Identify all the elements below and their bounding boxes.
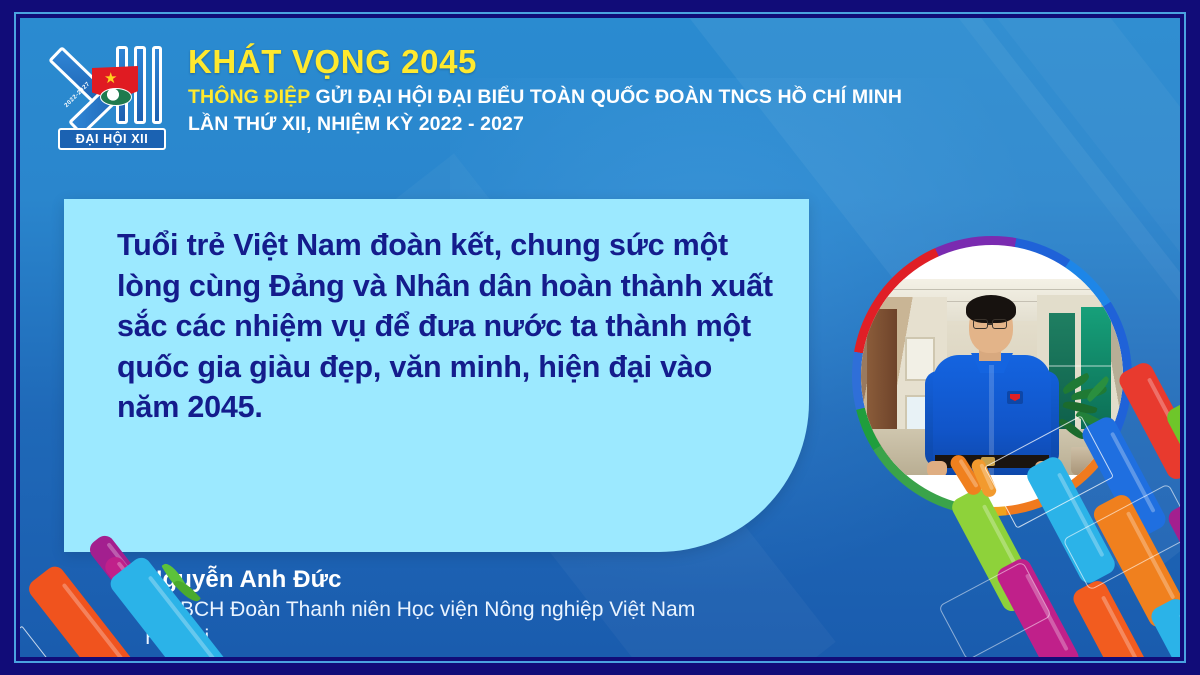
header-subtitle-line1: THÔNG ĐIỆP GỬI ĐẠI HỘI ĐẠI BIỂU TOÀN QUỐ… bbox=[188, 85, 902, 109]
poster-stage: 2022-2027 ★ ĐẠI HỘI XII KHÁT VỌNG 2045 T… bbox=[20, 18, 1180, 657]
poster-header: 2022-2027 ★ ĐẠI HỘI XII KHÁT VỌNG 2045 T… bbox=[56, 36, 902, 154]
youth-union-emblem-icon: ★ bbox=[92, 66, 138, 118]
decor-crayons-bottom-left bbox=[20, 538, 250, 657]
poster-root: 2022-2027 ★ ĐẠI HỘI XII KHÁT VỌNG 2045 T… bbox=[0, 0, 1200, 675]
header-subtitle-line2: LẦN THỨ XII, NHIỆM KỲ 2022 - 2027 bbox=[188, 113, 902, 136]
quote-card: Tuổi trẻ Việt Nam đoàn kết, chung sức mộ… bbox=[64, 199, 809, 552]
decor-crayons-bottom-right bbox=[950, 413, 1180, 657]
quote-text: Tuổi trẻ Việt Nam đoàn kết, chung sức mộ… bbox=[117, 225, 777, 428]
logo-banner-text: ĐẠI HỘI XII bbox=[58, 128, 166, 150]
dai-hoi-xii-logo-icon: 2022-2027 ★ ĐẠI HỘI XII bbox=[56, 36, 168, 154]
page-title: KHÁT VỌNG 2045 bbox=[188, 44, 902, 80]
shirt-badge-icon bbox=[1007, 391, 1023, 404]
header-text-block: KHÁT VỌNG 2045 THÔNG ĐIỆP GỬI ĐẠI HỘI ĐẠ… bbox=[188, 36, 902, 136]
subtitle-highlight: THÔNG ĐIỆP bbox=[188, 86, 310, 108]
subtitle-rest: GỬI ĐẠI HỘI ĐẠI BIỂU TOÀN QUỐC ĐOÀN TNCS… bbox=[316, 86, 903, 108]
